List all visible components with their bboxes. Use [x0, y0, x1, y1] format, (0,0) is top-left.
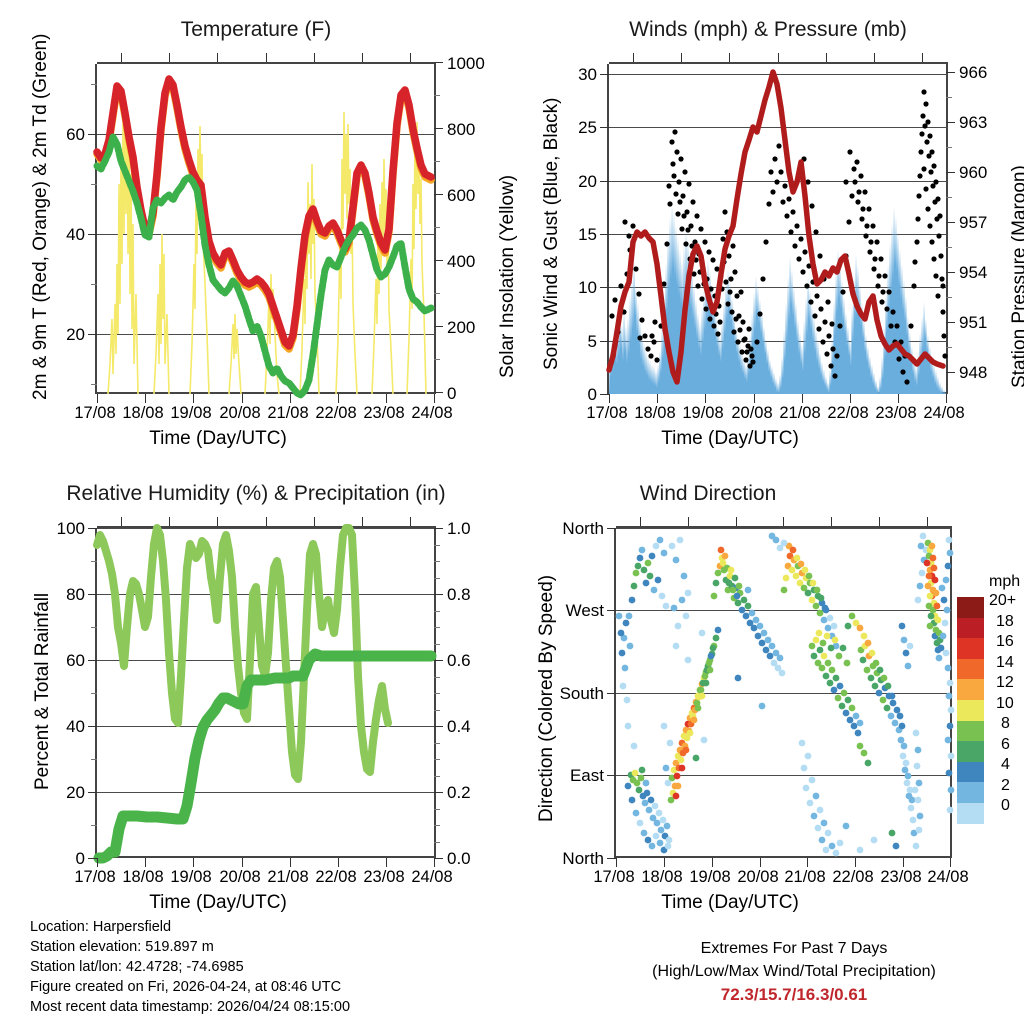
panel-wind-direction: Wind Direction Direction (Colored By Spe… — [512, 450, 1024, 920]
series-gust-black — [609, 89, 947, 384]
x-tick-7: 24/08 — [394, 404, 470, 423]
y-tick-right-1000: 1000 — [447, 55, 485, 72]
x-axis-title-humidity: Time (Day/UTC) — [0, 892, 474, 914]
footer-latlon: Station lat/lon: 42.4728; -74.6985 — [30, 958, 244, 978]
y-tick-10: 10 — [542, 279, 597, 296]
footer-location: Location: Harpersfield — [30, 918, 171, 938]
y-tick-right-963: 963 — [959, 114, 987, 131]
colorbar-label-6: 6 — [1001, 736, 1010, 754]
colorbar-swatch-4 — [957, 762, 984, 783]
colorbar-label-2: 2 — [1001, 777, 1010, 795]
colorbar-label-12: 12 — [996, 674, 1014, 692]
y-tick-east: East — [534, 767, 604, 784]
plot-area-winds — [607, 64, 946, 394]
y-axis-title-pressure: Station Pressure (Maroon) — [1009, 165, 1024, 388]
chart-title-winds: Winds (mph) & Pressure (mb) — [512, 18, 1024, 42]
y-tick-30: 30 — [542, 66, 597, 83]
colorbar-swatch-16 — [957, 638, 984, 659]
y-tick-right-08: 0.8 — [447, 586, 471, 603]
footer-data-timestamp: Most recent data timestamp: 2026/04/24 0… — [30, 998, 350, 1018]
panel-temperature: Temperature (F) 2m & 9m T (Red, Orange) … — [0, 0, 512, 450]
scatter-points — [616, 533, 955, 857]
extremes-values: 72.3/15.7/16.3/0.61 — [584, 984, 1004, 1006]
y-tick-0: 0 — [542, 386, 597, 403]
y-tick-right-400: 400 — [447, 253, 475, 270]
colorbar-label-4: 4 — [1001, 756, 1010, 774]
plot-area-temperature — [95, 64, 434, 394]
y-tick-40: 40 — [22, 718, 85, 735]
y-tick-40: 40 — [30, 226, 85, 243]
y-tick-5: 5 — [542, 333, 597, 350]
y-tick-right-800: 800 — [447, 121, 475, 138]
y-tick-right-600: 600 — [447, 187, 475, 204]
y-tick-15: 15 — [542, 226, 597, 243]
colorbar-unit-label: mph — [989, 573, 1020, 591]
colorbar-wind-speed — [957, 597, 984, 823]
colorbar-swatch-10 — [957, 700, 984, 721]
x-axis-title-wind-direction: Time (Day/UTC) — [474, 892, 986, 914]
y-tick-right-00: 0.0 — [447, 850, 471, 867]
wind-direction-scatter-svg — [616, 528, 952, 858]
y-tick-right-960: 960 — [959, 164, 987, 181]
panel-humidity-precip: Relative Humidity (%) & Precipitation (i… — [0, 450, 512, 920]
chart-title-wind-direction: Wind Direction — [452, 482, 964, 506]
y-axis-title-humidity: Percent & Total Rainfall — [32, 593, 54, 790]
x-axis-title-winds: Time (Day/UTC) — [474, 428, 986, 450]
y-tick-north-top: North — [534, 520, 604, 537]
temperature-series-svg — [97, 64, 436, 394]
colorbar-label-14: 14 — [996, 654, 1014, 672]
y-tick-60: 60 — [22, 652, 85, 669]
y-tick-north-bottom: North — [534, 850, 604, 867]
extremes-subtitle: (High/Low/Max Wind/Total Precipitation) — [584, 961, 1004, 983]
y-tick-0: 0 — [22, 850, 85, 867]
colorbar-swatch-6 — [957, 741, 984, 762]
colorbar-swatch-12 — [957, 679, 984, 700]
colorbar-swatch-14 — [957, 659, 984, 680]
y-tick-right-200: 200 — [447, 319, 475, 336]
y-tick-20: 20 — [30, 326, 85, 343]
y-tick-60: 60 — [30, 126, 85, 143]
extremes-title: Extremes For Past 7 Days — [584, 938, 1004, 960]
colorbar-label-10: 10 — [996, 695, 1014, 713]
x-tick-7: 24/08 — [910, 868, 986, 887]
chart-title-temperature: Temperature (F) — [0, 18, 512, 42]
colorbar-label-18: 18 — [996, 613, 1014, 631]
y-tick-south: South — [534, 685, 604, 702]
y-tick-20: 20 — [22, 784, 85, 801]
winds-series-svg — [609, 64, 948, 394]
y-tick-right-1: 1.0 — [447, 520, 471, 537]
footer-elevation: Station elevation: 519.897 m — [30, 938, 214, 958]
colorbar-swatch-2 — [957, 782, 984, 803]
colorbar-swatch-20plus — [957, 597, 984, 618]
colorbar-label-8: 8 — [1001, 715, 1010, 733]
humidity-series-svg — [97, 528, 436, 858]
x-axis-title-temperature: Time (Day/UTC) — [0, 428, 474, 450]
y-tick-right-954: 954 — [959, 264, 987, 281]
y-tick-right-02: 0.2 — [447, 784, 471, 801]
colorbar-label-16: 16 — [996, 633, 1014, 651]
plot-area-wind-direction — [614, 528, 950, 858]
y-tick-right-0: 0 — [447, 385, 456, 402]
colorbar-label-20plus: 20+ — [989, 592, 1016, 610]
y-tick-20: 20 — [542, 173, 597, 190]
y-tick-100: 100 — [22, 520, 85, 537]
colorbar-swatch-18 — [957, 618, 984, 639]
y-tick-right-06: 0.6 — [447, 652, 471, 669]
y-tick-right-951: 951 — [959, 314, 987, 331]
chart-title-humidity: Relative Humidity (%) & Precipitation (i… — [0, 482, 512, 506]
y-tick-right-957: 957 — [959, 214, 987, 231]
colorbar-label-0: 0 — [1001, 797, 1010, 815]
x-tick-7: 24/08 — [394, 868, 470, 887]
plot-area-humidity — [95, 528, 434, 858]
weather-dashboard: Temperature (F) 2m & 9m T (Red, Orange) … — [0, 0, 1024, 1024]
y-axis-title-temperature: 2m & 9m T (Red, Orange) & 2m Td (Green) — [30, 34, 52, 400]
x-tick-7: 24/08 — [906, 404, 982, 423]
y-tick-right-04: 0.4 — [447, 718, 471, 735]
y-tick-west: West — [534, 602, 604, 619]
y-tick-25: 25 — [542, 119, 597, 136]
y-tick-right-966: 966 — [959, 64, 987, 81]
colorbar-swatch-8 — [957, 721, 984, 742]
footer-figure-created: Figure created on Fri, 2026-04-24, at 08… — [30, 978, 341, 998]
colorbar-swatch-0 — [957, 803, 984, 824]
y-tick-80: 80 — [22, 586, 85, 603]
panel-winds-pressure: Winds (mph) & Pressure (mb) Sonic Wind &… — [512, 0, 1024, 450]
y-tick-right-948: 948 — [959, 364, 987, 381]
